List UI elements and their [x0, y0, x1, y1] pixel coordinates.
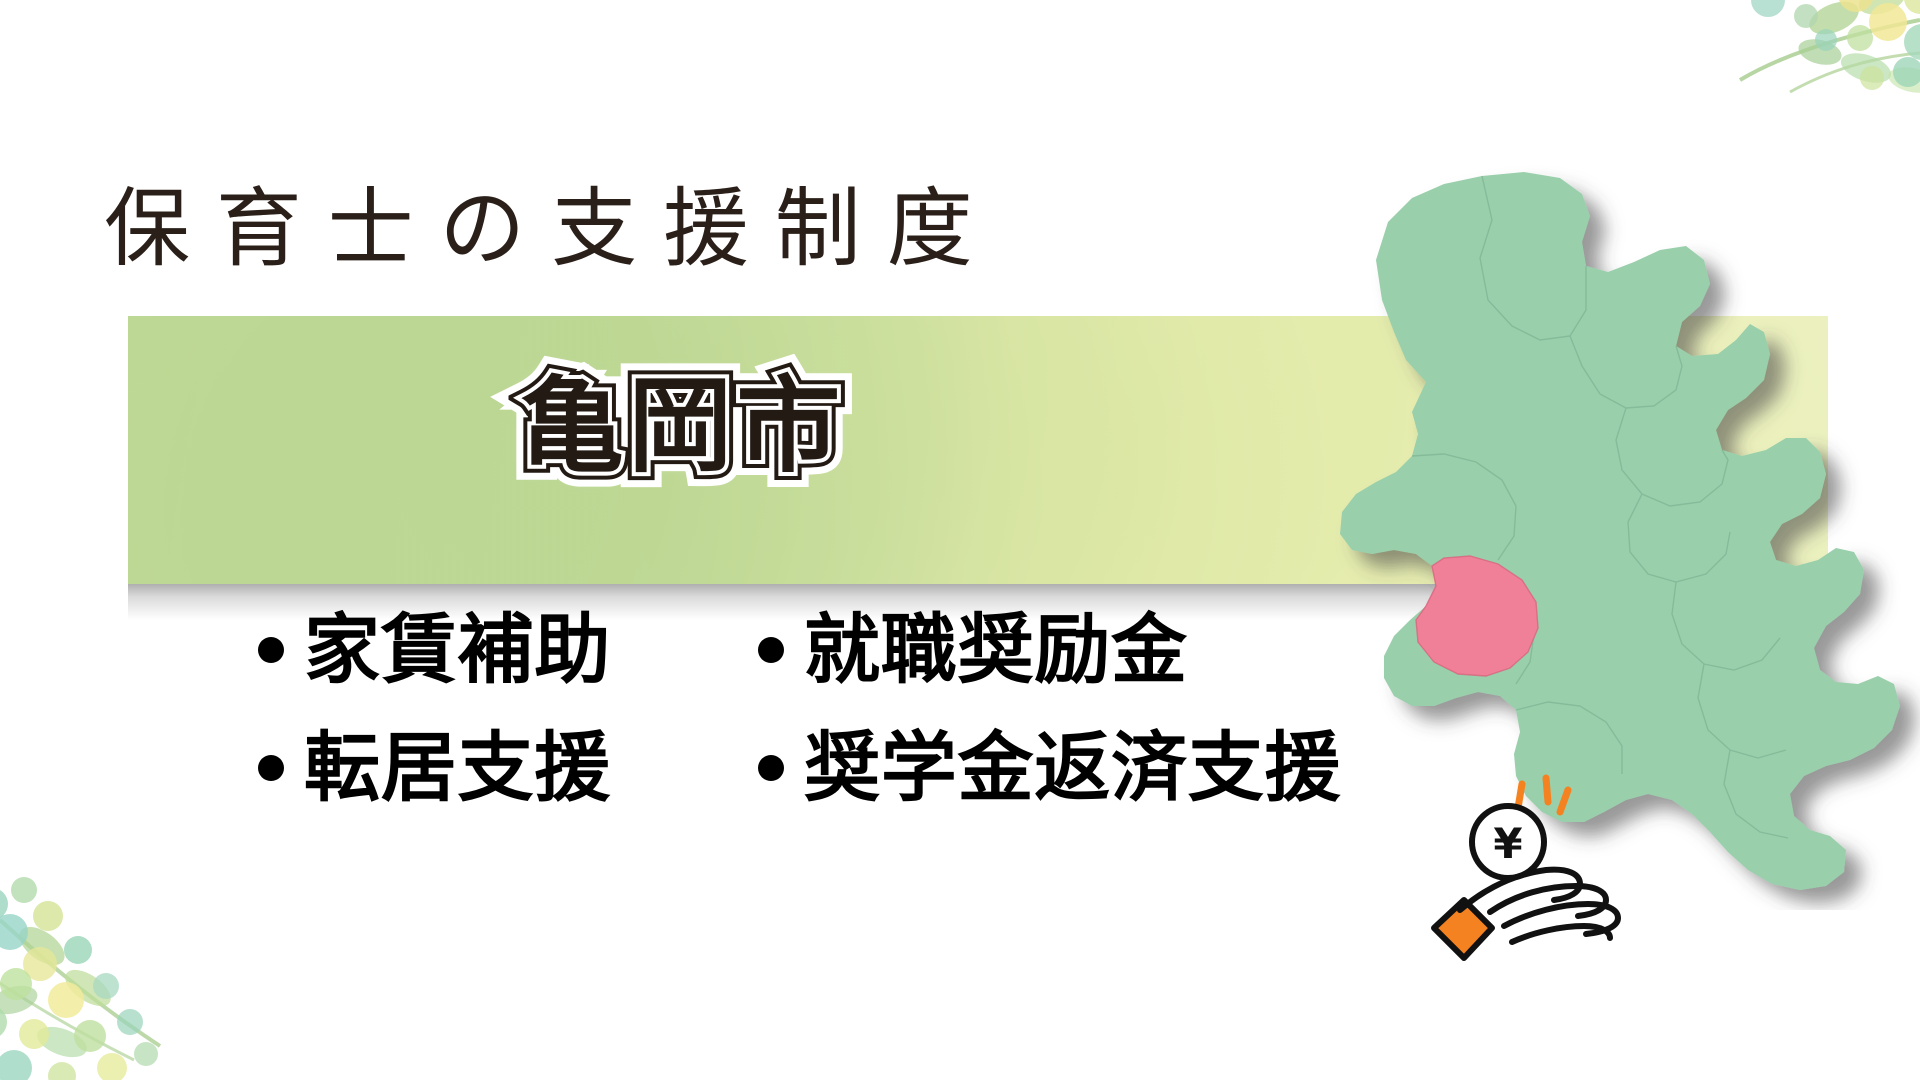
benefit-label: 家賃補助	[304, 612, 611, 688]
open-hand-icon	[1434, 870, 1618, 958]
berry-leaves	[1728, 0, 1920, 97]
watercolor-berry-cluster-bottom-left	[0, 860, 300, 1080]
city-name-label: 亀岡市	[520, 370, 844, 482]
sparkle-icon	[1518, 778, 1568, 812]
poster-canvas: 保育士の支援制度 亀岡市 亀岡市 亀岡市 亀岡市 家賃補助 就職奨励金 転居支援	[0, 0, 1920, 1080]
list-item: 転居支援	[258, 730, 758, 806]
bullet-dot-icon	[258, 755, 284, 781]
bullet-dot-icon	[758, 755, 784, 781]
list-item: 家賃補助	[258, 612, 758, 688]
list-item: 就職奨励金	[758, 612, 1188, 688]
berry-leaves	[0, 877, 160, 1080]
bullet-dot-icon	[258, 637, 284, 663]
benefit-label: 就職奨励金	[804, 612, 1188, 688]
coin-symbol: ¥	[1493, 819, 1522, 868]
coin-in-hand-illustration: ¥	[1430, 770, 1680, 970]
yen-coin-icon: ¥	[1472, 806, 1544, 878]
page-title: 保育士の支援制度	[104, 186, 998, 272]
bullet-dot-icon	[758, 637, 784, 663]
benefit-label: 転居支援	[304, 730, 611, 806]
